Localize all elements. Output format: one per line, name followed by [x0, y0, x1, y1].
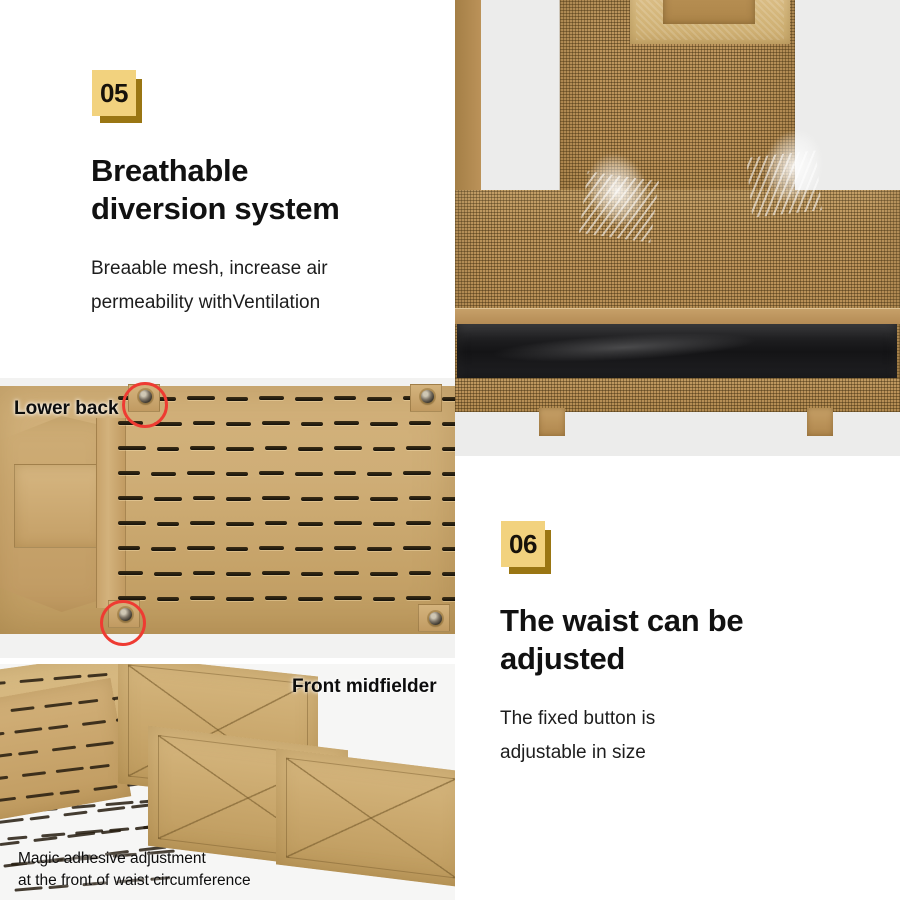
- laser-slot: [226, 447, 254, 451]
- laser-slot: [262, 571, 290, 575]
- waist-laser-slot: [63, 811, 87, 817]
- laser-slot: [298, 597, 323, 601]
- waist-laser-slot: [86, 741, 114, 747]
- airflow-streak-left: [579, 171, 659, 242]
- waist-laser-slot: [7, 836, 27, 841]
- waist-laser-slot: [78, 699, 98, 704]
- laser-slot: [262, 496, 290, 500]
- laser-slot: [154, 572, 182, 576]
- laser-slot: [118, 471, 140, 475]
- laser-slot: [301, 572, 323, 576]
- vest-left-shoulder: [455, 0, 481, 200]
- waist-laser-flap-lower: [0, 678, 131, 822]
- waist-laser-slot: [67, 832, 95, 838]
- laser-slot: [226, 397, 248, 401]
- vest-bottom-tab-left: [539, 408, 565, 436]
- waist-laser-slot: [97, 806, 125, 812]
- laser-slot: [193, 496, 215, 500]
- annotation-lower-back: Lower back: [14, 398, 119, 420]
- laser-slot: [193, 571, 215, 575]
- waist-laser-slot: [48, 724, 68, 729]
- annotation-front-midfielder: Front midfielder: [292, 676, 437, 698]
- waist-laser-slot: [30, 815, 50, 820]
- waist-laser-slot: [90, 764, 110, 769]
- laser-slot: [226, 522, 254, 526]
- laser-slot: [190, 521, 215, 525]
- laser-slot: [442, 472, 455, 476]
- laser-slot: [187, 546, 215, 550]
- waist-laser-slot: [93, 785, 117, 791]
- laser-slot: [406, 446, 431, 450]
- waist-laser-slot: [105, 801, 133, 806]
- laser-slot: [226, 472, 248, 476]
- laser-slot: [442, 572, 455, 576]
- waist-laser-slot: [0, 732, 5, 738]
- laser-slot: [118, 571, 143, 575]
- laser-slot: [409, 421, 431, 425]
- waist-laser-slot: [0, 841, 20, 846]
- laser-slot-row: [118, 596, 454, 600]
- laser-slot: [157, 522, 179, 526]
- laser-slot: [403, 546, 431, 550]
- laser-slot: [334, 571, 359, 575]
- laser-slot: [265, 596, 287, 600]
- waist-laser-slot: [26, 792, 54, 798]
- vest-bottom-mesh: [455, 378, 900, 412]
- laser-slot: [187, 471, 215, 475]
- laser-slot-row: [118, 396, 454, 400]
- waist-laser-slot: [101, 829, 121, 834]
- laser-slot: [118, 546, 140, 550]
- waist-laser-slot: [18, 750, 38, 755]
- waist-band-tail-stitch: [286, 758, 455, 879]
- waist-laser-slot: [0, 681, 6, 686]
- cummerbund-side-pocket: [14, 464, 104, 548]
- laser-slot: [442, 522, 455, 526]
- laser-slot-row: [118, 446, 454, 450]
- laser-slot: [295, 547, 323, 551]
- photo-cummerbund-panel: Lower back: [0, 378, 455, 658]
- laser-slot: [334, 596, 362, 600]
- laser-slot: [334, 546, 356, 550]
- laser-slot: [118, 496, 143, 500]
- laser-slot: [334, 496, 359, 500]
- laser-slot: [370, 572, 398, 576]
- waist-laser-slot: [0, 797, 16, 803]
- laser-slot: [409, 571, 431, 575]
- laser-slot: [373, 447, 395, 451]
- laser-slot: [367, 547, 392, 551]
- laser-slot-row: [118, 521, 454, 525]
- laser-slot: [157, 447, 179, 451]
- waist-laser-slot: [56, 767, 84, 773]
- badge-05-number: 05: [100, 80, 128, 106]
- laser-slot: [259, 396, 284, 400]
- laser-slot: [226, 422, 251, 426]
- badge-05: 05: [92, 70, 136, 116]
- laser-slot: [298, 522, 323, 526]
- laser-slot: [226, 547, 248, 551]
- laser-slot: [259, 471, 284, 475]
- laser-slot: [370, 497, 398, 501]
- laser-slot: [442, 447, 455, 451]
- caption-magic-adhesive: Magic adhesive adjustment at the front o…: [18, 848, 251, 892]
- waist-laser-slot: [19, 678, 43, 683]
- laser-slot: [403, 471, 431, 475]
- laser-slot: [406, 596, 431, 600]
- waist-laser-slot: [22, 771, 46, 777]
- vest-bottom-tab-right: [807, 408, 833, 436]
- snap-button-top-right: [421, 390, 434, 403]
- highlight-circle-upper: [122, 382, 168, 428]
- laser-slot: [301, 422, 323, 426]
- badge-05-face: 05: [92, 70, 136, 116]
- laser-slot: [367, 472, 392, 476]
- laser-slot: [187, 396, 215, 400]
- laser-slot: [262, 421, 290, 425]
- waist-laser-slot: [0, 818, 24, 824]
- laser-slot: [334, 446, 362, 450]
- laser-slot: [226, 497, 251, 501]
- laser-slot: [367, 397, 392, 401]
- laser-slot: [226, 572, 251, 576]
- laser-slot: [118, 521, 146, 525]
- airflow-streak-right: [746, 151, 822, 218]
- waist-laser-slot: [33, 836, 57, 842]
- photo-vest-mesh-back: [455, 0, 900, 456]
- laser-slot: [334, 471, 356, 475]
- laser-slot: [226, 597, 254, 601]
- laser-slot: [409, 496, 431, 500]
- laser-slot: [157, 597, 179, 601]
- laser-slot: [406, 521, 431, 525]
- laser-slot-row: [118, 546, 454, 550]
- laser-slot: [265, 521, 287, 525]
- laser-slot: [442, 397, 455, 401]
- laser-slot: [442, 597, 455, 601]
- waist-laser-slot: [44, 702, 72, 708]
- photo-waist-adjustment: Front midfielder Magic adhesive adjustme…: [0, 664, 455, 900]
- laser-slot: [151, 472, 176, 476]
- laser-slot-row: [118, 471, 454, 475]
- laser-slot: [373, 522, 395, 526]
- laser-slot: [298, 447, 323, 451]
- laser-slot: [334, 421, 359, 425]
- laser-slot: [301, 497, 323, 501]
- laser-slot: [295, 472, 323, 476]
- vest-photo-backdrop: [455, 0, 900, 456]
- laser-slot: [193, 421, 215, 425]
- badge-06: 06: [501, 521, 545, 567]
- section-06-subtext: The fixed button is adjustable in size: [500, 702, 860, 770]
- waist-laser-slot: [53, 675, 81, 680]
- section-05-subtext: Breaable mesh, increase air permeability…: [91, 252, 436, 320]
- waist-laser-slot: [82, 720, 106, 726]
- vest-collar-opening: [663, 0, 755, 24]
- vest-hem-seam: [455, 308, 900, 324]
- waist-laser-slot: [0, 776, 8, 781]
- laser-slot: [295, 397, 323, 401]
- infographic-page: 05 Breathable diversion system Breaable …: [0, 0, 900, 900]
- waist-band-tail: [276, 748, 455, 887]
- waist-laser-slot: [60, 789, 80, 794]
- highlight-circle-lower: [100, 600, 146, 646]
- cummerbund-photo-backdrop: [0, 378, 455, 658]
- waist-laser-slot: [14, 727, 42, 733]
- laser-slot: [118, 446, 146, 450]
- laser-slot-row: [118, 496, 454, 500]
- laser-slot: [334, 521, 362, 525]
- section-06-heading: The waist can be adjusted: [500, 602, 860, 679]
- laser-slot: [190, 446, 215, 450]
- laser-slot-row: [118, 571, 454, 575]
- laser-slot: [442, 422, 455, 426]
- vest-inner-plate-pocket: [457, 324, 897, 386]
- laser-slot: [190, 596, 215, 600]
- vest-shell: [455, 0, 900, 410]
- waist-laser-slot: [87, 673, 107, 678]
- waist-laser-slot: [10, 706, 34, 712]
- laser-slot: [265, 446, 287, 450]
- laser-slot: [154, 497, 182, 501]
- laser-slot: [370, 422, 398, 426]
- waist-laser-slot: [0, 753, 12, 759]
- badge-06-number: 06: [509, 531, 537, 557]
- badge-06-face: 06: [501, 521, 545, 567]
- laser-slot-row: [118, 421, 454, 425]
- laser-slot: [334, 396, 356, 400]
- snap-button-bottom-right: [429, 612, 442, 625]
- laser-slot: [442, 497, 455, 501]
- laser-slot: [442, 547, 455, 551]
- laser-slot: [259, 546, 284, 550]
- laser-slot: [373, 597, 395, 601]
- section-05-heading: Breathable diversion system: [91, 152, 431, 229]
- laser-slot: [151, 547, 176, 551]
- waist-laser-slot: [52, 746, 76, 752]
